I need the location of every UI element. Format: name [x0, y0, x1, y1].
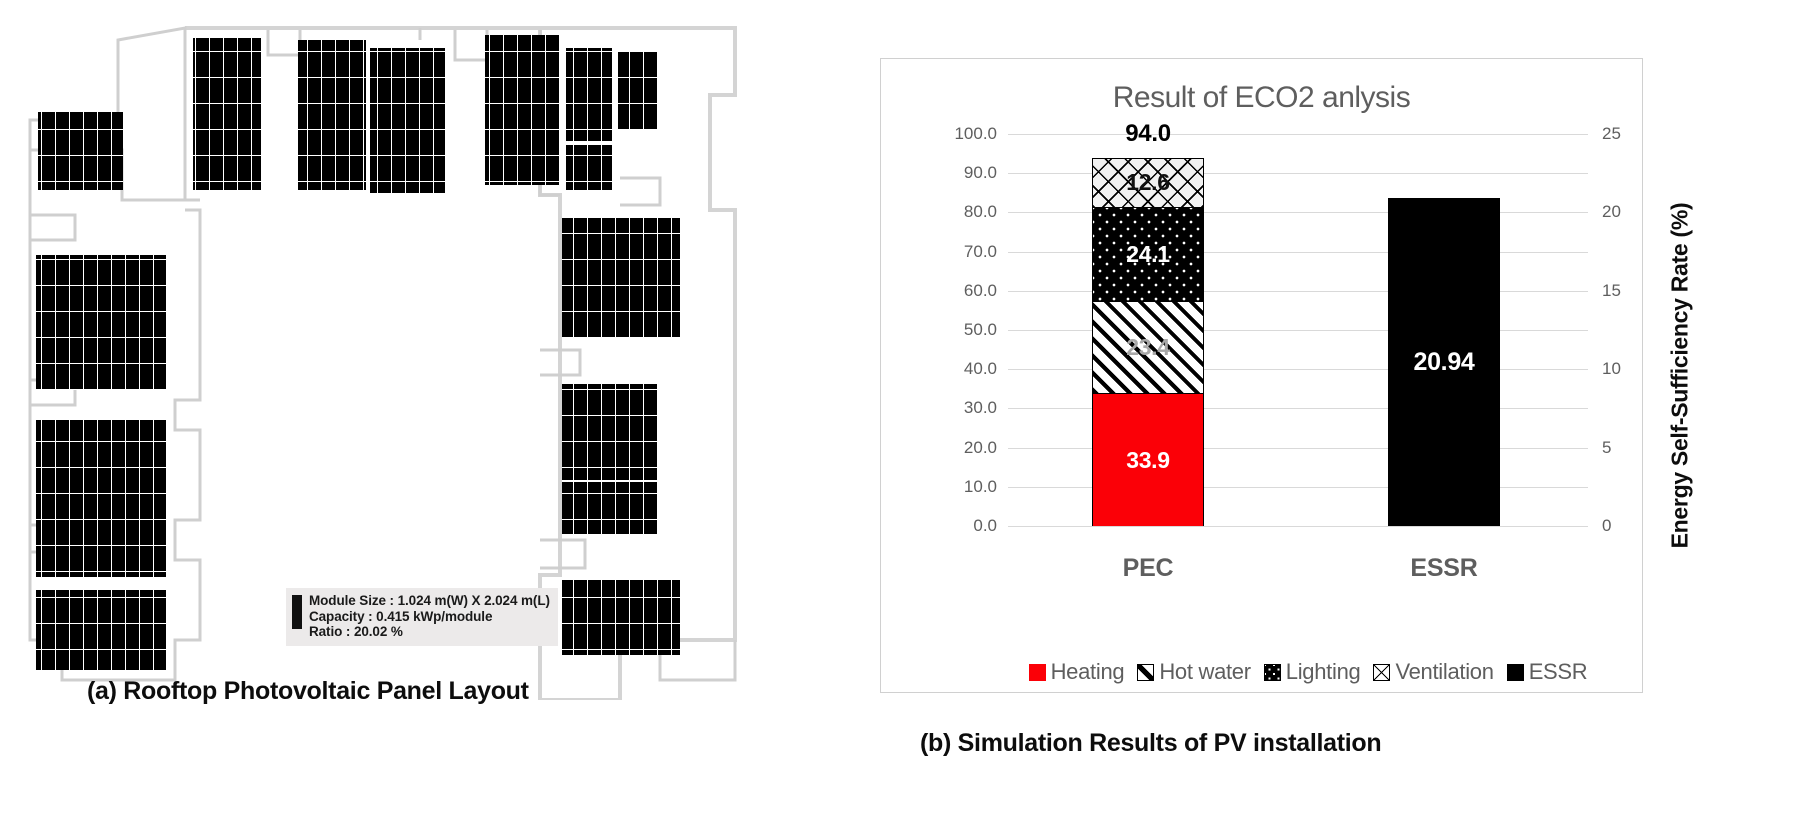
bar-segment-ventilation[interactable]: 12.6 [1092, 158, 1204, 207]
chart-plot-frame: Result of ECO2 anlysis 0.0 10.0 20.0 30.… [880, 58, 1643, 693]
legend-swatch-ventilation-icon [1373, 664, 1390, 681]
bar-segment-essr-value: 20.94 [1413, 348, 1474, 377]
bar-column-pec[interactable]: 94.0 12.6 24.1 23.4 33.9 PEC [1092, 158, 1204, 526]
bar-segment-ventilation-value: 12.6 [1126, 169, 1170, 196]
module-capacity-line: Capacity : 0.415 kWp/module [309, 609, 550, 625]
legend-swatch-heating-icon [1029, 664, 1046, 681]
bar-total-label-pec: 94.0 [1092, 120, 1204, 148]
legend-item-ventilation[interactable]: Ventilation [1373, 659, 1493, 685]
chart-plot-area: 0.0 10.0 20.0 30.0 40.0 50.0 60.0 70.0 8… [1008, 134, 1588, 526]
y-tick-right-20: 20 [1602, 202, 1621, 222]
figure-a-rooftop-pv-layout: Module Size : 1.024 m(W) X 2.024 m(L) Ca… [0, 0, 860, 836]
y-axis-title-right: Energy Self-Sufficiency Rate (%) [1660, 58, 1700, 693]
legend-item-essr[interactable]: ESSR [1507, 659, 1588, 685]
gridline-0: 0.0 [1008, 526, 1588, 527]
module-swatch-icon [292, 595, 302, 629]
y-tick-right-5: 5 [1602, 438, 1611, 458]
legend-swatch-essr-icon [1507, 664, 1524, 681]
y-tick-right-10: 10 [1602, 359, 1621, 379]
figure-b-caption: (b) Simulation Results of PV installatio… [920, 729, 1381, 758]
bar-segment-heating-value: 33.9 [1126, 447, 1170, 474]
bar-segment-essr[interactable]: 20.94 [1388, 198, 1500, 526]
y-tick-left-50: 50.0 [964, 320, 997, 340]
legend-label-essr: ESSR [1529, 659, 1588, 685]
module-info-box: Module Size : 1.024 m(W) X 2.024 m(L) Ca… [286, 588, 558, 646]
x-tick-label-essr: ESSR [1388, 554, 1500, 583]
chart-legend: Heating Hot water Lighting Ventilation E… [1008, 659, 1608, 685]
bar-segment-lighting-value: 24.1 [1126, 241, 1170, 268]
y-tick-left-80: 80.0 [964, 202, 997, 222]
legend-swatch-lighting-icon [1264, 664, 1281, 681]
bar-segment-lighting[interactable]: 24.1 [1092, 207, 1204, 301]
legend-label-lighting: Lighting [1286, 659, 1361, 685]
y-tick-left-40: 40.0 [964, 359, 997, 379]
y-tick-right-25: 25 [1602, 124, 1621, 144]
figure-a-caption: (a) Rooftop Photovoltaic Panel Layout [87, 677, 529, 706]
y-tick-right-0: 0 [1602, 516, 1611, 536]
legend-label-heating: Heating [1051, 659, 1125, 685]
x-tick-label-pec: PEC [1092, 554, 1204, 583]
legend-item-lighting[interactable]: Lighting [1264, 659, 1361, 685]
y-tick-left-20: 20.0 [964, 438, 997, 458]
y-tick-left-0: 0.0 [973, 516, 997, 536]
legend-item-heating[interactable]: Heating [1029, 659, 1125, 685]
y-tick-left-70: 70.0 [964, 242, 997, 262]
bar-segment-hot-water[interactable]: 23.4 [1092, 301, 1204, 393]
bar-column-essr[interactable]: 20.94 ESSR [1388, 198, 1500, 526]
legend-item-hot-water[interactable]: Hot water [1137, 659, 1250, 685]
y-tick-left-30: 30.0 [964, 398, 997, 418]
legend-label-ventilation: Ventilation [1395, 659, 1493, 685]
legend-swatch-hot-water-icon [1137, 664, 1154, 681]
module-ratio-line: Ratio : 20.02 % [309, 624, 550, 640]
y-tick-left-90: 90.0 [964, 163, 997, 183]
chart-title: Result of ECO2 anlysis [881, 81, 1642, 115]
figure-b-simulation-chart: Primary Energy Consumption(kWh/ m²yr) En… [860, 0, 1799, 836]
module-size-line: Module Size : 1.024 m(W) X 2.024 m(L) [309, 593, 550, 609]
legend-label-hot-water: Hot water [1159, 659, 1250, 685]
y-tick-left-10: 10.0 [964, 477, 997, 497]
y-tick-left-100: 100.0 [954, 124, 997, 144]
bar-segment-heating[interactable]: 33.9 [1092, 393, 1204, 526]
bar-segment-hot-water-value: 23.4 [1126, 334, 1170, 361]
y-tick-left-60: 60.0 [964, 281, 997, 301]
y-axis-title-right-text: Energy Self-Sufficiency Rate (%) [1667, 203, 1694, 549]
y-tick-right-15: 15 [1602, 281, 1621, 301]
